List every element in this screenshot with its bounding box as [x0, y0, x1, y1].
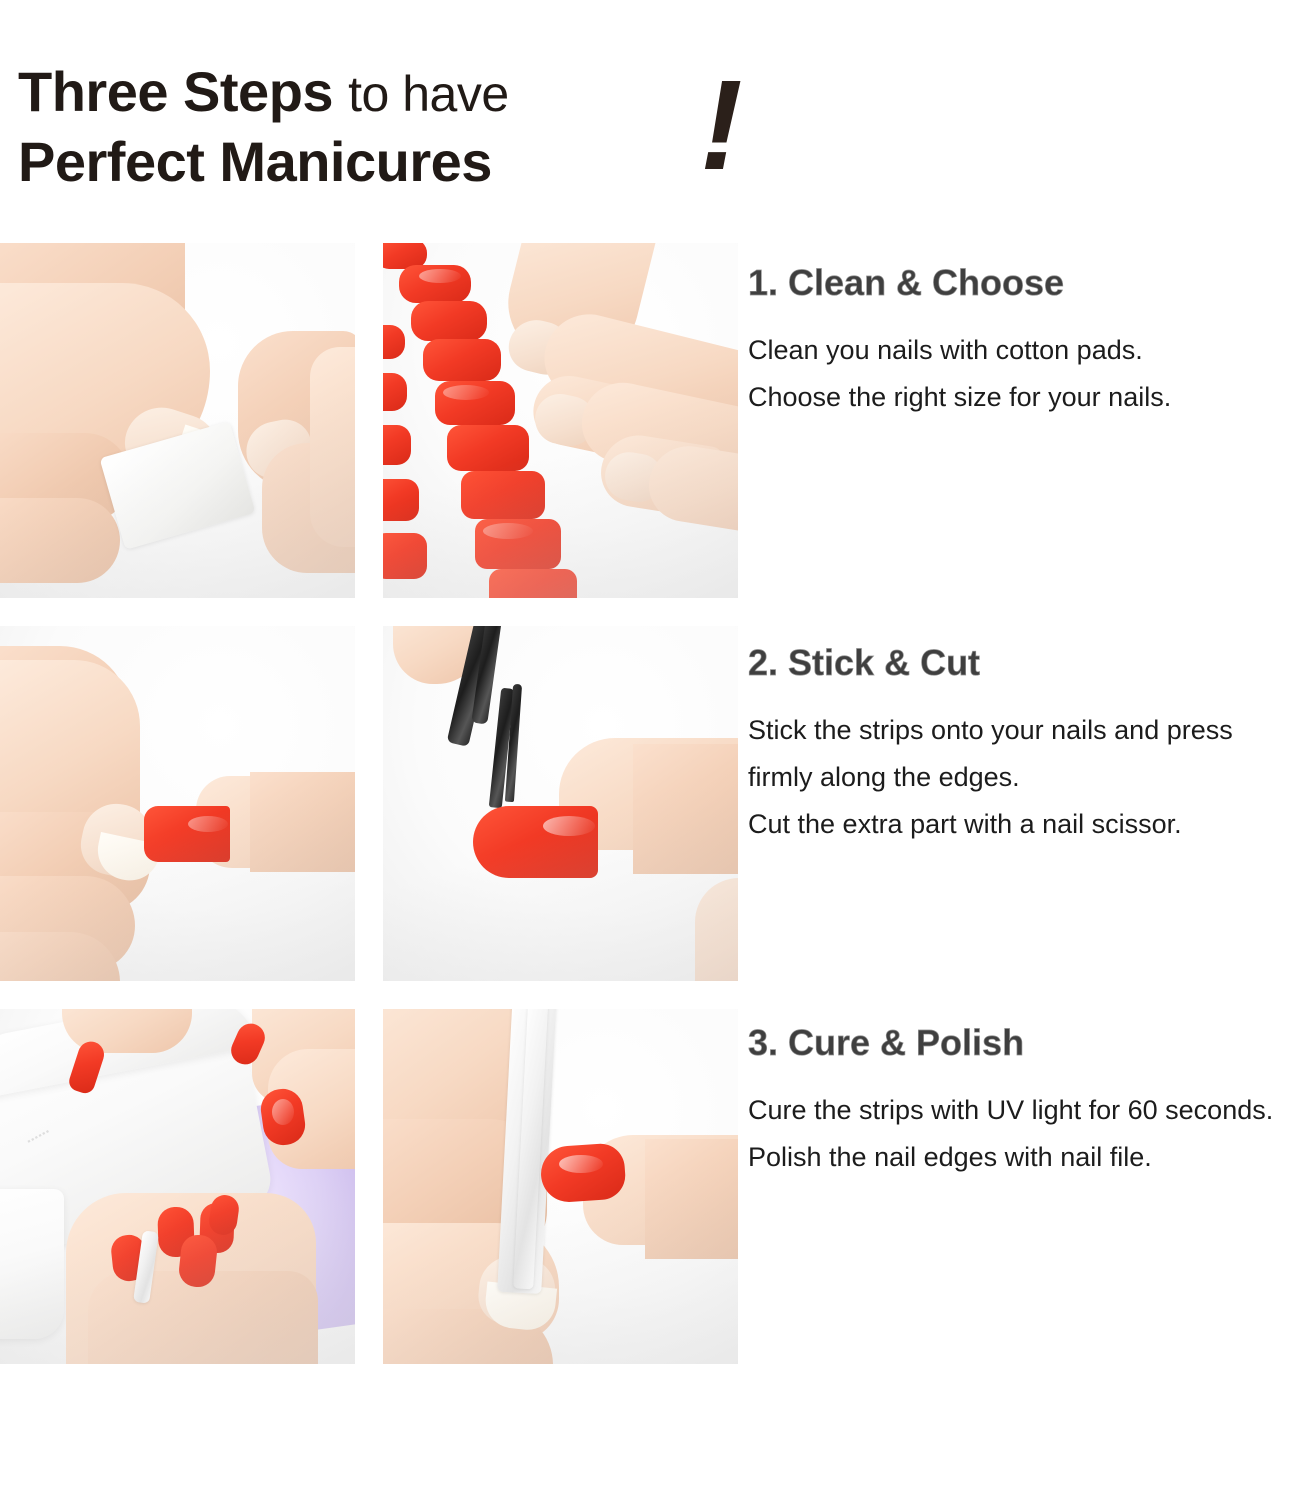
title-line-1-light: to have [348, 66, 509, 122]
photo-grid: ▪▪▪▪▪▪ [0, 243, 738, 1365]
photo-clean-nail-with-cotton-pad [0, 243, 355, 598]
step-2: 2. Stick & Cut Stick the strips onto you… [748, 641, 1300, 848]
title-line-1-strong: Three Steps [18, 60, 333, 123]
photo-cut-extra-with-scissor [383, 626, 738, 981]
step-1-heading: 1. Clean & Choose [748, 261, 1300, 305]
step-3: 3. Cure & Polish Cure the strips with UV… [748, 1021, 1300, 1181]
step-1-body: Clean you nails with cotton pads. Choose… [748, 327, 1300, 421]
title-line-2: Perfect Manicures [18, 128, 798, 196]
photo-polish-edges-with-file [383, 1009, 738, 1364]
photo-cure-under-uv-lamp: ▪▪▪▪▪▪ [0, 1009, 355, 1364]
title-line-1: Three Steps to have [18, 58, 798, 128]
photo-stick-strip-on-nail [0, 626, 355, 981]
step-2-body: Stick the strips onto your nails and pre… [748, 707, 1300, 848]
title-line-2-strong: Perfect Manicures [18, 130, 492, 193]
step-3-body: Cure the strips with UV light for 60 sec… [748, 1087, 1300, 1181]
photo-red-nail-strip-sheet [383, 243, 738, 598]
exclamation-mark: ! [700, 62, 743, 190]
step-3-heading: 3. Cure & Polish [748, 1021, 1300, 1065]
step-1: 1. Clean & Choose Clean you nails with c… [748, 261, 1300, 421]
step-2-heading: 2. Stick & Cut [748, 641, 1300, 685]
page-title: Three Steps to have Perfect Manicures [18, 58, 798, 196]
